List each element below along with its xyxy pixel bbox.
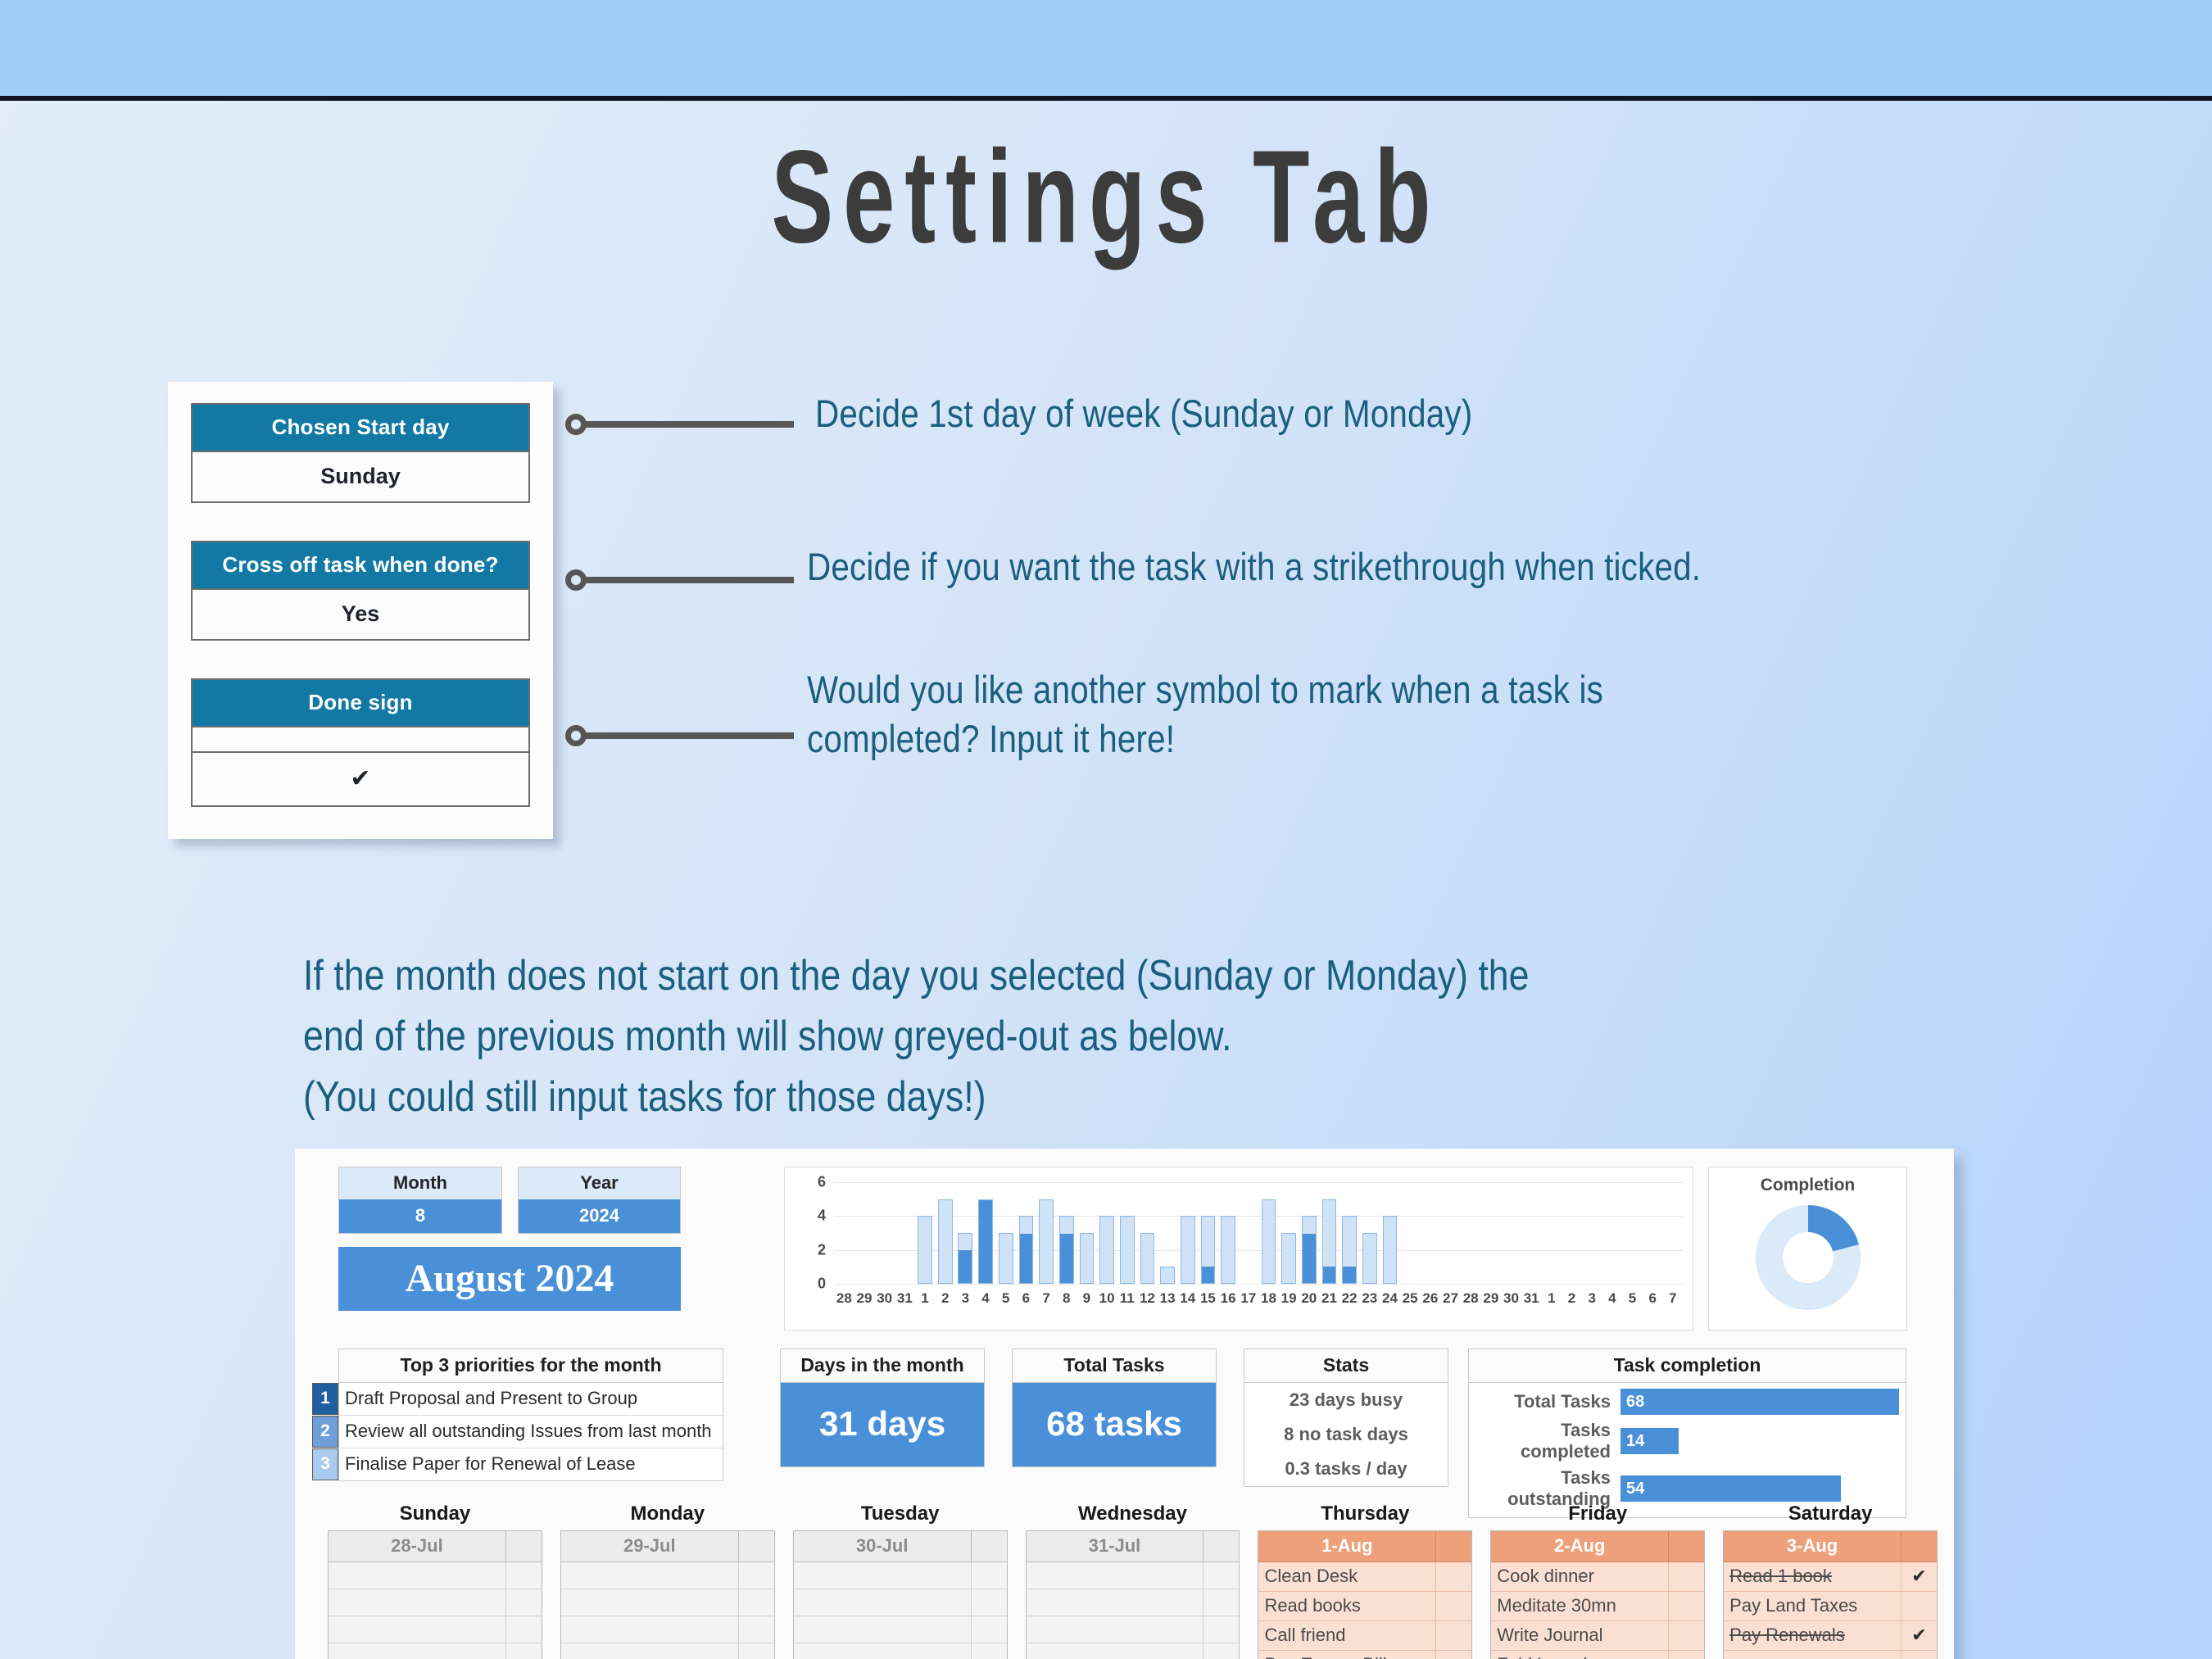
bar-chart-bar: [1582, 1182, 1602, 1284]
calendar-task-row[interactable]: Fold Laundry: [1491, 1651, 1704, 1659]
calendar-date-label: 31-Jul: [1027, 1531, 1203, 1562]
bar-chart-bar: [976, 1182, 996, 1284]
bar-total-segment: [1120, 1216, 1135, 1284]
bar-chart-x-tick: 30: [874, 1290, 895, 1312]
calendar-task-text[interactable]: [329, 1616, 505, 1643]
bar-total-segment: [1342, 1216, 1357, 1284]
setting-value-start-day[interactable]: Sunday: [191, 452, 530, 503]
calendar-task-row[interactable]: [794, 1643, 1007, 1659]
calendar-task-text[interactable]: Cook dinner: [1491, 1562, 1668, 1591]
calendar-task-checkbox[interactable]: [1435, 1592, 1471, 1620]
priorities-list: 1 Draft Proposal and Present to Group 2 …: [339, 1383, 723, 1480]
calendar-task-checkbox[interactable]: [1435, 1562, 1471, 1591]
calendar-date-header: 28-Jul: [329, 1531, 542, 1562]
priorities-header: Top 3 priorities for the month: [339, 1349, 723, 1383]
calendar-task-row[interactable]: [329, 1562, 542, 1589]
bar-chart-x-tick: 28: [834, 1290, 854, 1312]
total-tasks-value: 68 tasks: [1013, 1383, 1216, 1466]
bar-chart-x-tick: 26: [1420, 1290, 1440, 1312]
bar-chart-bar: [1359, 1182, 1380, 1284]
bar-chart-x-tick: 23: [1359, 1290, 1380, 1312]
bar-chart-x-tick: 1: [915, 1290, 936, 1312]
bar-chart-bar: [1643, 1182, 1663, 1284]
task-completion-bar-track: 14: [1620, 1428, 1906, 1454]
bar-completed-segment: [1323, 1267, 1336, 1283]
calendar-task-checkbox[interactable]: [505, 1589, 542, 1616]
bar-total-segment: [1221, 1216, 1235, 1284]
bar-total-segment: [938, 1199, 953, 1284]
bar-chart-bar: [955, 1182, 976, 1284]
calendar-day-name: Monday: [560, 1503, 775, 1525]
bar-chart-bar: [1117, 1182, 1137, 1284]
calendar-date-header: 31-Jul: [1027, 1531, 1240, 1562]
calendar-day-table: 29-Jul: [560, 1530, 775, 1659]
days-in-month-value: 31 days: [781, 1383, 984, 1466]
bar-total-segment: [1080, 1233, 1095, 1284]
completion-donut-ring: [1756, 1205, 1861, 1310]
calendar-check-column-header: [1901, 1531, 1937, 1562]
calendar-task-checkbox[interactable]: [505, 1562, 542, 1589]
calendar-task-row[interactable]: [794, 1589, 1007, 1616]
bar-chart-x-tick: 2: [1562, 1290, 1582, 1312]
bar-chart-x-tick: 13: [1158, 1290, 1178, 1312]
calendar-date-label: 28-Jul: [329, 1531, 505, 1562]
calendar-task-row[interactable]: [561, 1589, 774, 1616]
setting-header-cross-off: Cross off task when done?: [191, 541, 530, 590]
calendar-task-row[interactable]: Clean Desk: [1258, 1562, 1471, 1592]
bar-chart-x-tick: 15: [1198, 1290, 1218, 1312]
bar-chart-x-tick: 3: [955, 1290, 976, 1312]
calendar-check-column-header: [738, 1531, 774, 1562]
bar-chart-x-tick: 22: [1339, 1290, 1360, 1312]
calendar-check-column-header: [505, 1531, 542, 1562]
calendar-task-text[interactable]: Read 1 book: [1724, 1562, 1901, 1591]
body-note-text: If the month does not start on the day y…: [303, 946, 1783, 1127]
calendar-date-header: 29-Jul: [561, 1531, 774, 1562]
calendar-task-row[interactable]: Meditate 30mn: [1491, 1592, 1704, 1621]
setting-value-done-sign-tick[interactable]: ✔: [191, 753, 530, 807]
bar-chart-x-tick: 4: [976, 1290, 996, 1312]
calendar-day-column: Monday29-Jul: [560, 1503, 775, 1659]
bar-chart-bar: [1218, 1182, 1239, 1284]
bar-chart-bar: [995, 1182, 1016, 1284]
calendar-day-table: 28-Jul: [328, 1530, 542, 1659]
calendar-task-row[interactable]: [329, 1643, 542, 1659]
priority-text[interactable]: Draft Proposal and Present to Group: [338, 1383, 723, 1415]
total-tasks-header: Total Tasks: [1013, 1349, 1216, 1383]
bar-completed-segment: [1303, 1234, 1316, 1283]
setting-block-done-sign: Done sign ✔: [191, 678, 530, 807]
days-in-month-header: Days in the month: [781, 1349, 984, 1383]
bar-chart-bar: [1440, 1182, 1461, 1284]
top-banner-band: [0, 0, 2212, 101]
calendar-task-text[interactable]: Meditate 30mn: [1491, 1592, 1668, 1620]
bar-completed-segment: [1020, 1234, 1033, 1283]
calendar-day-column: Sunday28-Jul: [328, 1503, 542, 1659]
callout-text-done-sign: Would you like another symbol to mark wh…: [807, 665, 1934, 764]
calendar-day-column: Tuesday30-Jul: [793, 1503, 1008, 1659]
calendar-task-checkbox[interactable]: [1203, 1589, 1239, 1616]
calendar-task-row[interactable]: [1027, 1643, 1240, 1659]
calendar-task-checkbox[interactable]: [1668, 1562, 1704, 1591]
page-title: Settings Tab: [155, 131, 2057, 263]
calendar-task-row[interactable]: [561, 1562, 774, 1589]
daily-tasks-bar-chart: 0246 28293031123456789101112131415161718…: [784, 1167, 1693, 1330]
calendar-task-row[interactable]: Read books: [1258, 1592, 1471, 1621]
calendar-task-row[interactable]: [794, 1616, 1007, 1643]
leader-line: [585, 421, 794, 428]
calendar-task-text[interactable]: [561, 1589, 738, 1616]
calendar-task-text[interactable]: Fold Laundry: [1491, 1651, 1668, 1659]
calendar-task-checkbox[interactable]: [1668, 1592, 1704, 1620]
bar-chart-x-tick: 7: [1663, 1290, 1684, 1312]
bar-chart-x-tick: 14: [1177, 1290, 1198, 1312]
priority-rank-badge: 1: [312, 1383, 338, 1415]
bar-completed-segment: [1060, 1234, 1073, 1283]
bar-total-segment: [1059, 1216, 1074, 1284]
calendar-task-text[interactable]: [329, 1562, 505, 1589]
calendar-task-text[interactable]: Pay Energy Bill: [1258, 1651, 1435, 1659]
calendar-day-column: Thursday1-AugClean DeskRead booksCall fr…: [1258, 1503, 1472, 1659]
bar-chart-bar: [1339, 1182, 1360, 1284]
calendar-task-checkbox[interactable]: [1203, 1562, 1239, 1589]
bar-total-segment: [1039, 1199, 1054, 1284]
bar-chart-x-tick: 18: [1258, 1290, 1279, 1312]
calendar-check-column-header: [1668, 1531, 1704, 1562]
bar-chart-x-tick: 2: [935, 1290, 955, 1312]
bar-chart-x-tick: 4: [1602, 1290, 1623, 1312]
bar-chart-x-tick: 30: [1501, 1290, 1521, 1312]
year-selector-label: Year: [519, 1167, 680, 1199]
calendar-date-header: 3-Aug: [1724, 1531, 1937, 1562]
bar-chart-x-tick: 9: [1077, 1290, 1097, 1312]
completion-donut-chart: Completion: [1708, 1167, 1907, 1330]
calendar-day-table: 2-AugCook dinnerMeditate 30mnWrite Journ…: [1490, 1530, 1705, 1659]
bar-chart-bar: [1663, 1182, 1684, 1284]
calendar-task-checkbox[interactable]: [1435, 1651, 1471, 1659]
calendar-task-row[interactable]: [794, 1562, 1007, 1589]
calendar-task-row[interactable]: Pay Renewals✔: [1724, 1621, 1937, 1651]
calendar-task-row[interactable]: [561, 1616, 774, 1643]
bar-total-segment: [1383, 1216, 1398, 1284]
bar-total-segment: [1099, 1216, 1114, 1284]
setting-header-done-sign: Done sign: [191, 678, 530, 728]
bar-chart-bar: [1056, 1182, 1077, 1284]
bar-chart-bars: [834, 1182, 1683, 1284]
calendar-task-checkbox[interactable]: [971, 1616, 1007, 1643]
bar-chart-x-tick: 27: [1440, 1290, 1461, 1312]
calendar-day-name: Saturday: [1723, 1503, 1938, 1525]
setting-header-start-day: Chosen Start day: [191, 403, 530, 452]
setting-value-cross-off[interactable]: Yes: [191, 590, 530, 641]
calendar-task-row[interactable]: Pay Energy Bill: [1258, 1651, 1471, 1659]
bar-total-segment: [958, 1233, 972, 1284]
calendar-task-row[interactable]: Read 1 book✔: [1724, 1562, 1937, 1592]
calendar-check-column-header: [1203, 1531, 1239, 1562]
calendar-task-checkbox[interactable]: [1901, 1592, 1937, 1620]
calendar-date-label: 30-Jul: [794, 1531, 971, 1562]
calendar-day-name: Wednesday: [1026, 1503, 1240, 1525]
calendar-day-table: 3-AugRead 1 book✔Pay Land TaxesPay Renew…: [1723, 1530, 1938, 1659]
month-selector-label: Month: [339, 1167, 501, 1199]
bar-chart-bar: [1299, 1182, 1319, 1284]
priority-rank-badge: 2: [312, 1416, 338, 1448]
calendar-task-text[interactable]: [794, 1616, 971, 1643]
calendar-task-row[interactable]: Write Journal: [1491, 1621, 1704, 1651]
bar-total-segment: [1362, 1233, 1377, 1284]
stat-line: 0.3 tasks / day: [1244, 1452, 1448, 1486]
calendar-day-table: 31-Jul: [1026, 1530, 1240, 1659]
bar-chart-x-tick: 24: [1380, 1290, 1400, 1312]
bar-chart-bar: [895, 1182, 915, 1284]
calendar-day-name: Friday: [1490, 1503, 1705, 1525]
calendar-check-column-header: [1435, 1531, 1471, 1562]
calendar-day-table: 1-AugClean DeskRead booksCall friendPay …: [1258, 1530, 1472, 1659]
bar-total-segment: [1201, 1216, 1216, 1284]
bar-chart-bar: [1016, 1182, 1036, 1284]
bar-completed-segment: [1202, 1267, 1215, 1283]
calendar-date-label: 3-Aug: [1724, 1531, 1901, 1562]
calendar-week-grid: Sunday28-JulMonday29-JulTuesday30-JulWed…: [328, 1503, 1938, 1659]
calendar-task-checkbox[interactable]: ✔: [1901, 1562, 1937, 1591]
calendar-task-text[interactable]: Pay Renewals: [1724, 1621, 1901, 1650]
bar-chart-x-tick: 10: [1097, 1290, 1117, 1312]
bar-chart-bar: [1461, 1182, 1481, 1284]
stat-line: 8 no task days: [1244, 1417, 1448, 1452]
year-selector[interactable]: Year 2024: [518, 1167, 681, 1234]
calendar-task-row[interactable]: Cook dinner: [1491, 1562, 1704, 1592]
calendar-task-checkbox[interactable]: [1668, 1621, 1704, 1650]
calendar-task-text[interactable]: [794, 1562, 971, 1589]
bar-chart-bar: [1542, 1182, 1562, 1284]
bar-chart-bar: [1602, 1182, 1623, 1284]
bar-chart-bar: [834, 1182, 854, 1284]
priority-rank-badge: 3: [312, 1448, 338, 1480]
calendar-task-checkbox[interactable]: [505, 1616, 542, 1643]
bar-chart-bar: [874, 1182, 895, 1284]
stats-card: Stats 23 days busy 8 no task days 0.3 ta…: [1244, 1349, 1448, 1487]
spreadsheet-screenshot: Month 8 Year 2024 August 2024 0246 28293…: [295, 1149, 1954, 1659]
calendar-task-text[interactable]: [794, 1589, 971, 1616]
bar-chart-bar: [1158, 1182, 1178, 1284]
priority-text[interactable]: Review all outstanding Issues from last …: [338, 1416, 723, 1448]
calendar-task-text[interactable]: [1027, 1562, 1203, 1589]
calendar-date-label: 2-Aug: [1491, 1531, 1668, 1562]
task-completion-card: Task completion Total Tasks68Tasks compl…: [1468, 1349, 1906, 1518]
calendar-task-text[interactable]: [1027, 1589, 1203, 1616]
bar-chart-bar: [854, 1182, 875, 1284]
bar-chart-x-tick: 21: [1319, 1290, 1339, 1312]
bar-chart-bar: [1177, 1182, 1198, 1284]
bar-total-segment: [999, 1233, 1013, 1284]
calendar-task-checkbox[interactable]: [1901, 1651, 1937, 1659]
calendar-task-checkbox[interactable]: [1203, 1643, 1239, 1659]
task-completion-bar-track: 54: [1620, 1475, 1906, 1502]
top-priorities-card: Top 3 priorities for the month 1 Draft P…: [338, 1349, 723, 1481]
task-completion-label: Tasks completed: [1469, 1420, 1620, 1462]
bar-total-segment: [1140, 1233, 1155, 1284]
stat-line: 23 days busy: [1244, 1383, 1448, 1417]
bar-chart-bar: [1238, 1182, 1258, 1284]
bar-chart-bar: [1521, 1182, 1542, 1284]
bar-chart-x-tick: 25: [1400, 1290, 1421, 1312]
task-completion-bars: Total Tasks68Tasks completed14Tasks outs…: [1469, 1383, 1906, 1517]
calendar-task-checkbox[interactable]: [505, 1643, 542, 1659]
bar-total-segment: [1181, 1216, 1195, 1284]
task-completion-bar-track: 68: [1620, 1389, 1906, 1415]
calendar-task-checkbox[interactable]: [1668, 1651, 1704, 1659]
task-completion-row: Total Tasks68: [1469, 1386, 1906, 1417]
bar-chart-bar: [1562, 1182, 1582, 1284]
calendar-task-row[interactable]: [1027, 1616, 1240, 1643]
completion-chart-title: Completion: [1709, 1176, 1906, 1195]
bar-chart-bar: [1481, 1182, 1502, 1284]
calendar-date-label: 1-Aug: [1258, 1531, 1435, 1562]
calendar-date-label: 29-Jul: [561, 1531, 738, 1562]
bar-chart-x-tick: 1: [1542, 1290, 1562, 1312]
month-selector-value[interactable]: 8: [339, 1199, 501, 1233]
calendar-task-text[interactable]: [1724, 1651, 1901, 1659]
calendar-task-row[interactable]: [1027, 1562, 1240, 1589]
calendar-task-checkbox[interactable]: [738, 1643, 774, 1659]
bar-chart-x-tick: 19: [1279, 1290, 1299, 1312]
leader-line: [585, 732, 794, 739]
calendar-task-row[interactable]: [1027, 1589, 1240, 1616]
calendar-task-checkbox[interactable]: [738, 1562, 774, 1589]
bar-chart-bar: [1319, 1182, 1339, 1284]
bar-chart-x-tick: 31: [1521, 1290, 1542, 1312]
bar-chart-x-tick: 5: [1622, 1290, 1643, 1312]
leader-dot-icon: [565, 414, 587, 435]
bar-total-segment: [1302, 1216, 1317, 1284]
calendar-task-row[interactable]: [561, 1643, 774, 1659]
calendar-task-checkbox[interactable]: ✔: [1901, 1621, 1937, 1650]
calendar-day-column: Friday2-AugCook dinnerMeditate 30mnWrite…: [1490, 1503, 1705, 1659]
calendar-task-text[interactable]: [1027, 1616, 1203, 1643]
calendar-task-text[interactable]: [561, 1643, 738, 1659]
calendar-task-row[interactable]: [329, 1616, 542, 1643]
bar-chart-y-tick: 4: [818, 1208, 826, 1225]
settings-card: Chosen Start day Sunday Cross off task w…: [168, 382, 553, 839]
priority-row[interactable]: 1 Draft Proposal and Present to Group: [339, 1383, 723, 1416]
bar-completed-segment: [1343, 1267, 1356, 1283]
bar-chart-bar: [915, 1182, 936, 1284]
calendar-task-row[interactable]: Call friend: [1258, 1621, 1471, 1651]
bar-chart-gridline: 0: [834, 1284, 1683, 1285]
bar-chart-y-tick: 0: [818, 1276, 826, 1293]
calendar-task-row[interactable]: [329, 1589, 542, 1616]
calendar-task-text[interactable]: [329, 1643, 505, 1659]
month-selector[interactable]: Month 8: [338, 1167, 502, 1234]
calendar-task-checkbox[interactable]: [738, 1616, 774, 1643]
bar-chart-plot-area: 0246: [834, 1182, 1683, 1284]
calendar-task-checkbox[interactable]: [971, 1589, 1007, 1616]
calendar-task-checkbox[interactable]: [1203, 1616, 1239, 1643]
priority-row[interactable]: 2 Review all outstanding Issues from las…: [339, 1416, 723, 1448]
year-selector-value[interactable]: 2024: [519, 1199, 680, 1233]
bar-chart-bar: [1137, 1182, 1158, 1284]
bar-chart-x-axis-labels: 2829303112345678910111213141516171819202…: [834, 1290, 1683, 1312]
days-in-month-card: Days in the month 31 days: [780, 1349, 985, 1467]
calendar-task-text[interactable]: [561, 1562, 738, 1589]
calendar-task-text[interactable]: Clean Desk: [1258, 1562, 1435, 1591]
bar-chart-bar: [1198, 1182, 1218, 1284]
calendar-day-name: Tuesday: [793, 1503, 1008, 1525]
calendar-task-text[interactable]: Call friend: [1258, 1621, 1435, 1650]
calendar-task-text[interactable]: Pay Land Taxes: [1724, 1592, 1901, 1620]
calendar-task-row[interactable]: Pay Land Taxes: [1724, 1592, 1937, 1621]
bar-total-segment: [1262, 1199, 1276, 1284]
bar-chart-x-tick: 6: [1643, 1290, 1663, 1312]
bar-chart-bar: [1400, 1182, 1421, 1284]
priority-row[interactable]: 3 Finalise Paper for Renewal of Lease: [339, 1448, 723, 1480]
leader-dot-icon: [565, 725, 587, 746]
calendar-day-name: Sunday: [328, 1503, 542, 1525]
bar-chart-x-tick: 5: [995, 1290, 1016, 1312]
bar-chart-bar: [1622, 1182, 1643, 1284]
bar-chart-bar: [1501, 1182, 1521, 1284]
callout-text-start-day: Decide 1st day of week (Sunday or Monday…: [815, 389, 1872, 438]
month-title-banner: August 2024: [338, 1247, 681, 1311]
calendar-task-text[interactable]: [1027, 1643, 1203, 1659]
bar-chart-bar: [1420, 1182, 1440, 1284]
setting-block-start-day: Chosen Start day Sunday: [191, 403, 530, 503]
calendar-date-header: 1-Aug: [1258, 1531, 1471, 1562]
bar-chart-bar: [1380, 1182, 1400, 1284]
bar-chart-x-tick: 28: [1461, 1290, 1481, 1312]
bar-chart-x-tick: 8: [1056, 1290, 1077, 1312]
calendar-task-row[interactable]: [1724, 1651, 1937, 1659]
bar-chart-x-tick: 17: [1238, 1290, 1258, 1312]
bar-completed-segment: [979, 1200, 992, 1283]
bar-chart-bar: [1258, 1182, 1279, 1284]
task-completion-bar: 14: [1620, 1428, 1679, 1454]
bar-total-segment: [1019, 1216, 1034, 1284]
setting-value-done-sign-blank[interactable]: [191, 728, 530, 753]
calendar-day-name: Thursday: [1258, 1503, 1472, 1525]
calendar-task-checkbox[interactable]: [971, 1562, 1007, 1589]
bar-chart-x-tick: 3: [1582, 1290, 1602, 1312]
priority-text[interactable]: Finalise Paper for Renewal of Lease: [338, 1448, 723, 1480]
calendar-task-checkbox[interactable]: [738, 1589, 774, 1616]
calendar-day-column: Saturday3-AugRead 1 book✔Pay Land TaxesP…: [1723, 1503, 1938, 1659]
bar-chart-bar: [1036, 1182, 1057, 1284]
task-completion-label: Total Tasks: [1469, 1391, 1620, 1412]
total-tasks-card: Total Tasks 68 tasks: [1012, 1349, 1217, 1467]
bar-chart-x-tick: 16: [1218, 1290, 1239, 1312]
calendar-day-column: Wednesday31-Jul: [1026, 1503, 1240, 1659]
bar-chart-x-tick: 11: [1117, 1290, 1137, 1312]
calendar-task-text[interactable]: Read books: [1258, 1592, 1435, 1620]
calendar-task-text[interactable]: [794, 1643, 971, 1659]
calendar-task-checkbox[interactable]: [1435, 1621, 1471, 1650]
calendar-task-checkbox[interactable]: [971, 1643, 1007, 1659]
bar-chart-x-tick: 12: [1137, 1290, 1158, 1312]
bar-completed-segment: [959, 1250, 972, 1283]
calendar-task-text[interactable]: [561, 1616, 738, 1643]
bar-chart-bar: [1097, 1182, 1117, 1284]
calendar-task-text[interactable]: Write Journal: [1491, 1621, 1668, 1650]
calendar-date-header: 30-Jul: [794, 1531, 1007, 1562]
bar-chart-bar: [1279, 1182, 1299, 1284]
task-completion-header: Task completion: [1469, 1349, 1906, 1383]
bar-chart-bar: [1077, 1182, 1097, 1284]
bar-chart-x-tick: 29: [1481, 1290, 1502, 1312]
bar-chart-x-tick: 31: [895, 1290, 915, 1312]
bar-chart-bar: [935, 1182, 955, 1284]
bar-chart-x-tick: 7: [1036, 1290, 1057, 1312]
calendar-task-text[interactable]: [329, 1589, 505, 1616]
